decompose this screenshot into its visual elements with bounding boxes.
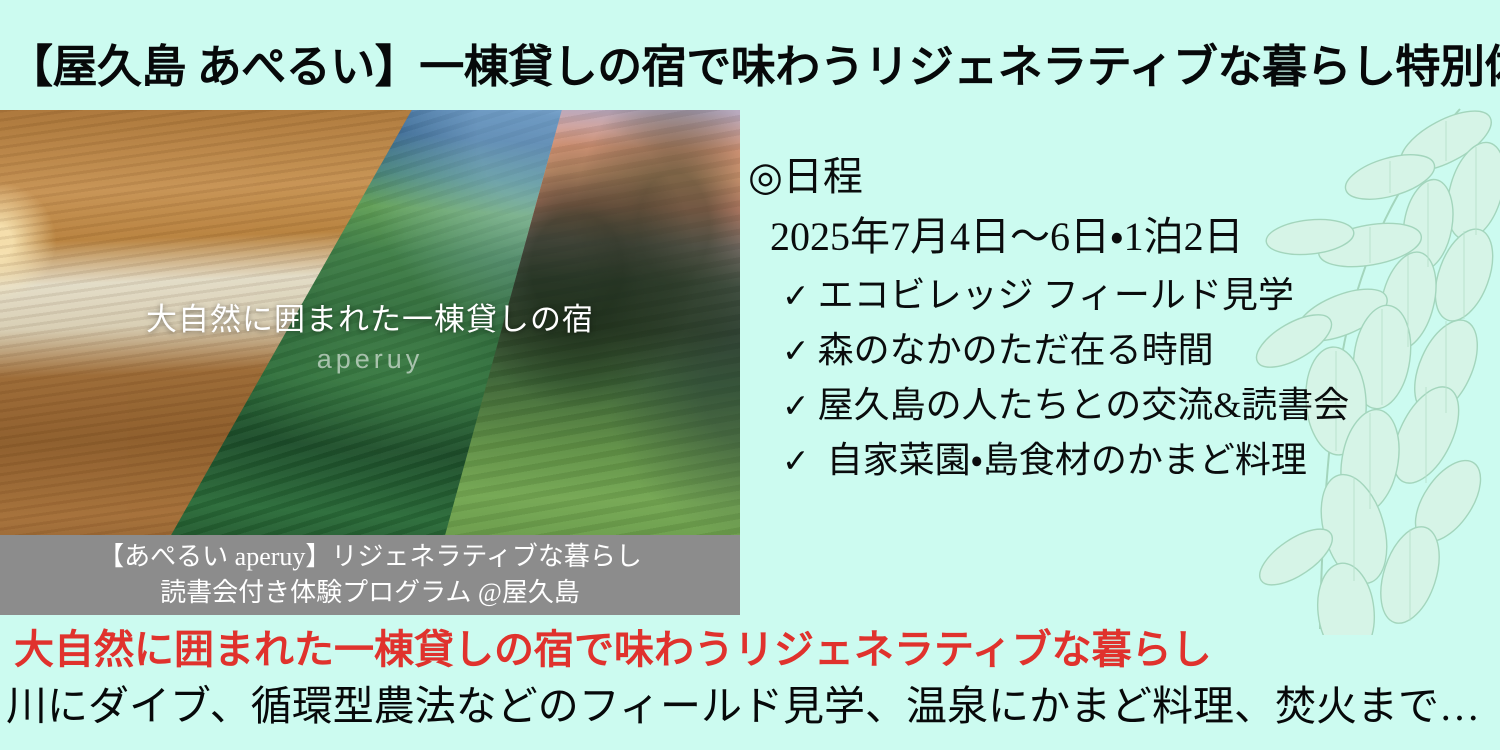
poster-canvas: 【屋久島 あぺるい】一棟貸しの宿で味わうリジェネラティブな暮らし特別体験プログラ… bbox=[0, 0, 1500, 750]
tagline-primary: 大自然に囲まれた一棟貸しの宿で味わうリジェネラティブな暮らし bbox=[14, 624, 1212, 676]
schedule-date: 2025年7月4日〜6日・1泊2日 bbox=[770, 208, 1493, 266]
list-item-label: 森のなかのただ在る時間 bbox=[818, 330, 1214, 370]
check-icon: ✓ bbox=[782, 379, 810, 433]
page-title: 【屋久島 あぺるい】一棟貸しの宿で味わうリジェネラティブな暮らし特別体験プログラ… bbox=[8, 36, 1500, 98]
caption-line-2: 読書会付き体験プログラム @屋久島 bbox=[160, 575, 580, 611]
list-item-label: 自家菜園・島食材のかまど料理 bbox=[818, 440, 1307, 480]
image-caption-bar: 【あぺるい aperuy】リジェネラティブな暮らし 読書会付き体験プログラム @… bbox=[0, 535, 740, 615]
photo-montage: 大自然に囲まれた一棟貸しの宿 aperuy bbox=[0, 110, 740, 535]
schedule-heading: ◎日程 bbox=[748, 150, 1493, 204]
list-item: ✓屋久島の人たちとの交流&読書会 bbox=[782, 378, 1493, 433]
check-icon: ✓ bbox=[782, 434, 810, 488]
check-icon: ✓ bbox=[782, 324, 810, 378]
tagline-secondary: 川にダイブ、循環型農法などのフィールド見学、温泉にかまど料理、焚火まで… bbox=[6, 678, 1480, 734]
list-item-label: 屋久島の人たちとの交流&読書会 bbox=[818, 385, 1350, 425]
list-item: ✓ 自家菜園・島食材のかまど料理 bbox=[782, 433, 1493, 488]
list-item: ✓エコビレッジ フィールド見学 bbox=[782, 268, 1493, 323]
schedule-block: ◎日程 2025年7月4日〜6日・1泊2日 ✓エコビレッジ フィールド見学 ✓森… bbox=[748, 150, 1493, 488]
caption-line-1: 【あぺるい aperuy】リジェネラティブな暮らし bbox=[98, 539, 642, 575]
check-icon: ✓ bbox=[782, 269, 810, 323]
list-item: ✓森のなかのただ在る時間 bbox=[782, 323, 1493, 378]
schedule-item-list: ✓エコビレッジ フィールド見学 ✓森のなかのただ在る時間 ✓屋久島の人たちとの交… bbox=[782, 268, 1493, 488]
list-item-label: エコビレッジ フィールド見学 bbox=[818, 275, 1294, 315]
